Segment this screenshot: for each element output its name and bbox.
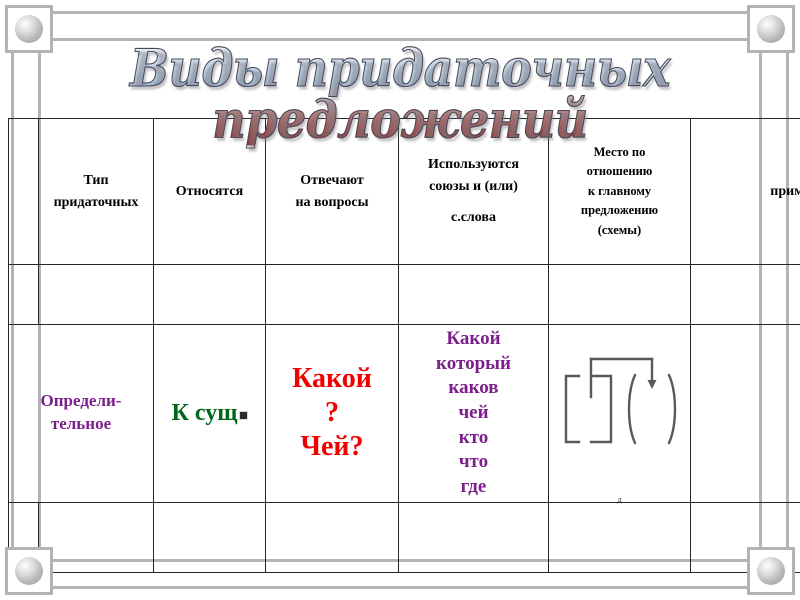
box-glyph-icon — [239, 411, 248, 420]
scheme-holder — [552, 323, 687, 496]
bolt-icon-top-left — [5, 5, 53, 53]
header-spacer — [402, 197, 545, 207]
arrow-head-icon — [647, 380, 656, 389]
cell-examples — [691, 325, 800, 503]
attaches-to-text: К сущ — [172, 400, 238, 426]
header-gutter-cell — [9, 119, 39, 265]
header-line: Используются — [402, 154, 545, 176]
table-row: Определи- тельное К сущ Какой ? Чей? Как… — [9, 325, 800, 503]
conjunction-line: что — [402, 450, 545, 475]
header-cell-conjunctions: Используются союзы и (или) с.слова — [399, 119, 549, 265]
conjunction-line: каков — [402, 376, 545, 401]
header-line: Место по — [552, 143, 687, 162]
blank-cell — [399, 265, 549, 325]
types-of-subordinate-clauses-table: Тип придаточных Относятся Отвечают на во… — [8, 118, 800, 524]
header-line: предложению — [552, 201, 687, 220]
frame-rail-top-inner — [14, 38, 786, 41]
slide-canvas: Виды придаточных предложений Тип придато… — [0, 0, 800, 600]
header-line: с.слова — [402, 207, 545, 229]
blank-cell — [549, 502, 691, 572]
header-cell-questions: Отвечают на вопросы — [266, 119, 399, 265]
header-line: придаточных — [42, 192, 150, 214]
header-cell-type: Тип придаточных — [39, 119, 154, 265]
question-line: Какой — [269, 362, 395, 396]
cell-clause-type: Определи- тельное — [9, 325, 154, 503]
header-line: примеры — [694, 181, 800, 203]
conjunction-line: чей — [402, 401, 545, 426]
bolt-icon-top-right — [747, 5, 795, 53]
bracket-arrow-scheme-icon — [555, 353, 685, 465]
blank-cell — [266, 265, 399, 325]
header-line: (схемы) — [552, 221, 687, 240]
frame-rail-bottom-outer — [14, 586, 786, 589]
cell-attaches-to: К сущ — [154, 325, 266, 503]
blank-cell — [266, 502, 399, 572]
blank-cell — [154, 502, 266, 572]
header-line: к главному — [552, 182, 687, 201]
cell-conjunctions: Какой который каков чей кто что где — [399, 325, 549, 503]
header-line: Относятся — [157, 181, 262, 203]
header-cell-examples: примеры — [691, 119, 800, 265]
conjunction-line: Какой — [402, 327, 545, 352]
blank-cell — [39, 502, 154, 572]
cell-questions: Какой ? Чей? — [266, 325, 399, 503]
clause-type-line: Определи- — [41, 391, 122, 410]
frame-rail-top-outer — [14, 11, 786, 14]
header-line: союзы и (или) — [402, 176, 545, 198]
header-cell-attaches: Относятся — [154, 119, 266, 265]
conjunction-line: кто — [402, 426, 545, 451]
cell-position-scheme: д — [549, 325, 691, 503]
blank-cell — [549, 265, 691, 325]
table-row-blank-upper — [9, 265, 800, 325]
clause-type-line: тельное — [51, 414, 111, 433]
question-line: Чей? — [269, 430, 395, 464]
blank-cell — [154, 265, 266, 325]
conjunction-line: где — [402, 475, 545, 500]
header-line: Отвечают — [269, 170, 395, 192]
table-row-blank-lower — [9, 502, 800, 572]
bolt-icon-bottom-left — [5, 547, 53, 595]
blank-cell — [39, 265, 154, 325]
header-cell-position: Место по отношению к главному предложени… — [549, 119, 691, 265]
blank-cell — [9, 265, 39, 325]
question-line: ? — [269, 396, 395, 430]
table-header-row: Тип придаточных Относятся Отвечают на во… — [9, 119, 800, 265]
blank-cell — [399, 502, 549, 572]
header-line: Тип — [42, 170, 150, 192]
header-line: на вопросы — [269, 192, 395, 214]
bolt-icon-bottom-right — [747, 547, 795, 595]
conjunction-line: который — [402, 352, 545, 377]
header-line: отношению — [552, 162, 687, 181]
blank-cell — [691, 265, 800, 325]
